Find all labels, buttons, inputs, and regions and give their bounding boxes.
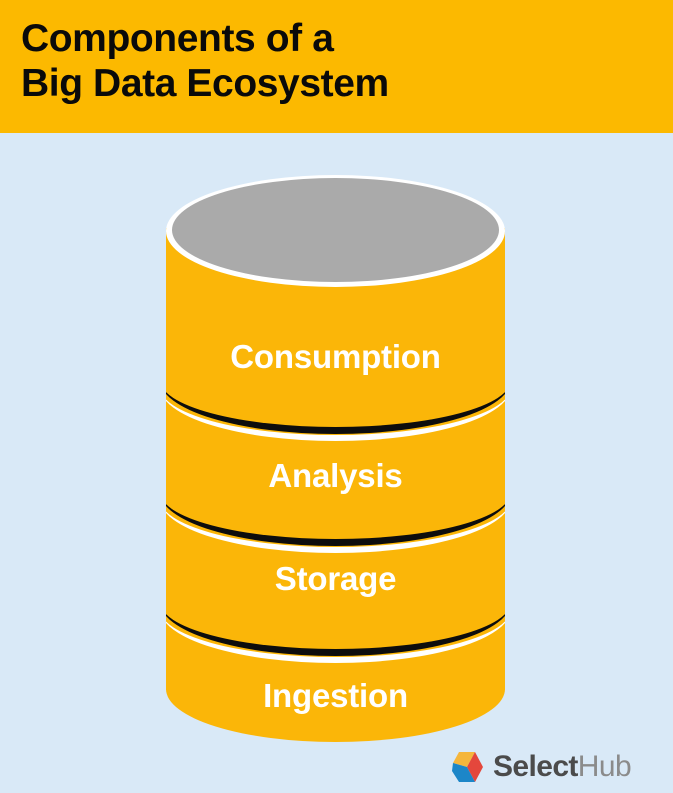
selecthub-wordmark: SelectHub	[493, 752, 631, 782]
cylinder-top-disc	[172, 178, 499, 282]
cube-icon	[450, 751, 484, 783]
layer-label-consumption: Consumption	[166, 338, 505, 376]
layer-label-analysis: Analysis	[166, 457, 505, 495]
logo-hub-text: Hub	[578, 750, 631, 783]
header-band: Components of a Big Data Ecosystem	[0, 0, 673, 133]
layer-label-ingestion: Ingestion	[166, 677, 505, 715]
page-title: Components of a Big Data Ecosystem	[21, 16, 641, 106]
diagram-canvas: Consumption Analysis Storage Ingestion	[0, 133, 673, 793]
big-data-ecosystem-cylinder: Consumption Analysis Storage Ingestion	[166, 175, 505, 745]
layer-label-storage: Storage	[166, 560, 505, 598]
selecthub-logo[interactable]: SelectHub	[450, 747, 631, 787]
logo-select-text: Select	[493, 750, 578, 783]
